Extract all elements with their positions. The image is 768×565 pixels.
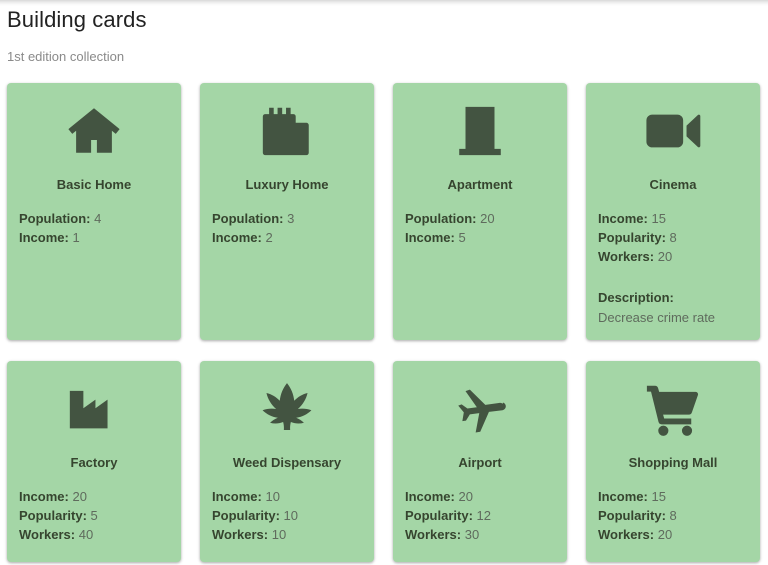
card-title: Basic Home: [19, 177, 169, 193]
card-stat: Workers: 20: [598, 525, 748, 544]
card-stat-value: 20: [480, 211, 494, 226]
card-stat-label: Income:: [212, 489, 262, 504]
card-slot: Shopping MallIncome: 15Popularity: 8Work…: [586, 361, 760, 562]
card-stat-value: 40: [79, 527, 93, 542]
airplane-icon: [405, 377, 555, 441]
card-stat-label: Population:: [405, 211, 477, 226]
card-stat: Popularity: 5: [19, 506, 169, 525]
card-stats: Income: 20Popularity: 12Workers: 30: [405, 487, 555, 544]
card-stat: Population: 20: [405, 209, 555, 228]
card-stat-value: 2: [265, 230, 272, 245]
card-stats: Income: 10Popularity: 10Workers: 10: [212, 487, 362, 544]
card-stat: Popularity: 10: [212, 506, 362, 525]
card-stat-value: 30: [465, 527, 479, 542]
cannabis-leaf-icon: [212, 377, 362, 441]
card-stat: Workers: 40: [19, 525, 169, 544]
card-stat-value: 20: [72, 489, 86, 504]
card-title: Weed Dispensary: [212, 455, 362, 471]
card-stat-label: Popularity:: [19, 508, 87, 523]
card-stats: Income: 15Popularity: 8Workers: 20: [598, 209, 748, 266]
card-stat-value: 10: [284, 508, 298, 523]
card-title: Factory: [19, 455, 169, 471]
apartment-building-icon: [405, 99, 555, 163]
card-stat-label: Popularity:: [212, 508, 280, 523]
card-title: Apartment: [405, 177, 555, 193]
card-stat: Income: 10: [212, 487, 362, 506]
card-stat-label: Income:: [19, 489, 69, 504]
card-stat-label: Income:: [405, 489, 455, 504]
card-stat: Income: 1: [19, 228, 169, 247]
building-card[interactable]: Shopping MallIncome: 15Popularity: 8Work…: [586, 361, 760, 562]
card-stat: Workers: 20: [598, 247, 748, 266]
card-stat-value: 20: [458, 489, 472, 504]
shopping-cart-icon: [598, 377, 748, 441]
card-stat: Income: 5: [405, 228, 555, 247]
card-stat-value: 20: [658, 249, 672, 264]
card-title: Luxury Home: [212, 177, 362, 193]
card-stat-value: 4: [94, 211, 101, 226]
building-card[interactable]: FactoryIncome: 20Popularity: 5Workers: 4…: [7, 361, 181, 562]
building-card[interactable]: Luxury HomePopulation: 3Income: 2: [200, 83, 374, 340]
card-stat: Popularity: 8: [598, 228, 748, 247]
card-stat-value: 5: [458, 230, 465, 245]
card-stat-label: Popularity:: [405, 508, 473, 523]
building-card[interactable]: AirportIncome: 20Popularity: 12Workers: …: [393, 361, 567, 562]
card-slot: Luxury HomePopulation: 3Income: 2: [200, 83, 374, 340]
card-stat-label: Popularity:: [598, 508, 666, 523]
card-description-text: Decrease crime rate: [598, 308, 748, 327]
card-stat: Population: 4: [19, 209, 169, 228]
card-stat: Income: 2: [212, 228, 362, 247]
card-stat-label: Population:: [212, 211, 284, 226]
card-slot: AirportIncome: 20Popularity: 12Workers: …: [393, 361, 567, 562]
page-subtitle: 1st edition collection: [0, 34, 768, 65]
card-description: Description:Decrease crime rate: [598, 288, 748, 327]
card-stat-value: 20: [658, 527, 672, 542]
card-stat-value: 1: [72, 230, 79, 245]
card-stat-value: 5: [91, 508, 98, 523]
building-card[interactable]: ApartmentPopulation: 20Income: 5: [393, 83, 567, 340]
card-stat: Popularity: 8: [598, 506, 748, 525]
card-stat-value: 10: [265, 489, 279, 504]
card-stat-label: Workers:: [405, 527, 461, 542]
card-stat-value: 15: [651, 211, 665, 226]
card-stats: Population: 20Income: 5: [405, 209, 555, 247]
home-icon: [19, 99, 169, 163]
video-camera-icon: [598, 99, 748, 163]
card-stat-value: 3: [287, 211, 294, 226]
card-stat-label: Workers:: [19, 527, 75, 542]
card-stat-label: Workers:: [598, 249, 654, 264]
card-stat-label: Workers:: [598, 527, 654, 542]
building-card[interactable]: Basic HomePopulation: 4Income: 1: [7, 83, 181, 340]
card-stats: Income: 20Popularity: 5Workers: 40: [19, 487, 169, 544]
card-stats: Income: 15Popularity: 8Workers: 20: [598, 487, 748, 544]
card-stat: Income: 20: [19, 487, 169, 506]
card-title: Airport: [405, 455, 555, 471]
card-stat-label: Income:: [598, 489, 648, 504]
card-stat-label: Income:: [598, 211, 648, 226]
page-title: Building cards: [0, 0, 768, 34]
card-stat: Popularity: 12: [405, 506, 555, 525]
card-stat-value: 10: [272, 527, 286, 542]
card-slot: CinemaIncome: 15Popularity: 8Workers: 20…: [586, 83, 760, 340]
card-title: Cinema: [598, 177, 748, 193]
card-stat-label: Workers:: [212, 527, 268, 542]
card-stat-value: 12: [477, 508, 491, 523]
card-slot: Weed DispensaryIncome: 10Popularity: 10W…: [200, 361, 374, 562]
card-stat-label: Income:: [19, 230, 69, 245]
card-stat-label: Income:: [212, 230, 262, 245]
city-buildings-icon: [212, 99, 362, 163]
card-stat: Income: 15: [598, 487, 748, 506]
card-stat: Income: 15: [598, 209, 748, 228]
factory-icon: [19, 377, 169, 441]
card-stat: Workers: 10: [212, 525, 362, 544]
building-card[interactable]: Weed DispensaryIncome: 10Popularity: 10W…: [200, 361, 374, 562]
card-slot: Basic HomePopulation: 4Income: 1: [7, 83, 181, 340]
card-stat-value: 8: [670, 230, 677, 245]
card-stat-value: 8: [670, 508, 677, 523]
card-slot: FactoryIncome: 20Popularity: 5Workers: 4…: [7, 361, 181, 562]
building-card[interactable]: CinemaIncome: 15Popularity: 8Workers: 20…: [586, 83, 760, 340]
page-container: Building cards 1st edition collection Ba…: [0, 0, 768, 562]
card-stat: Population: 3: [212, 209, 362, 228]
card-stat-label: Popularity:: [598, 230, 666, 245]
card-stat-label: Income:: [405, 230, 455, 245]
card-title: Shopping Mall: [598, 455, 748, 471]
card-slot: ApartmentPopulation: 20Income: 5: [393, 83, 567, 340]
card-stat-value: 15: [651, 489, 665, 504]
card-stat: Income: 20: [405, 487, 555, 506]
card-stat: Workers: 30: [405, 525, 555, 544]
card-description-label: Description:: [598, 288, 748, 307]
card-stats: Population: 4Income: 1: [19, 209, 169, 247]
card-stat-label: Population:: [19, 211, 91, 226]
building-card-grid: Basic HomePopulation: 4Income: 1Luxury H…: [0, 65, 768, 562]
card-stats: Population: 3Income: 2: [212, 209, 362, 247]
